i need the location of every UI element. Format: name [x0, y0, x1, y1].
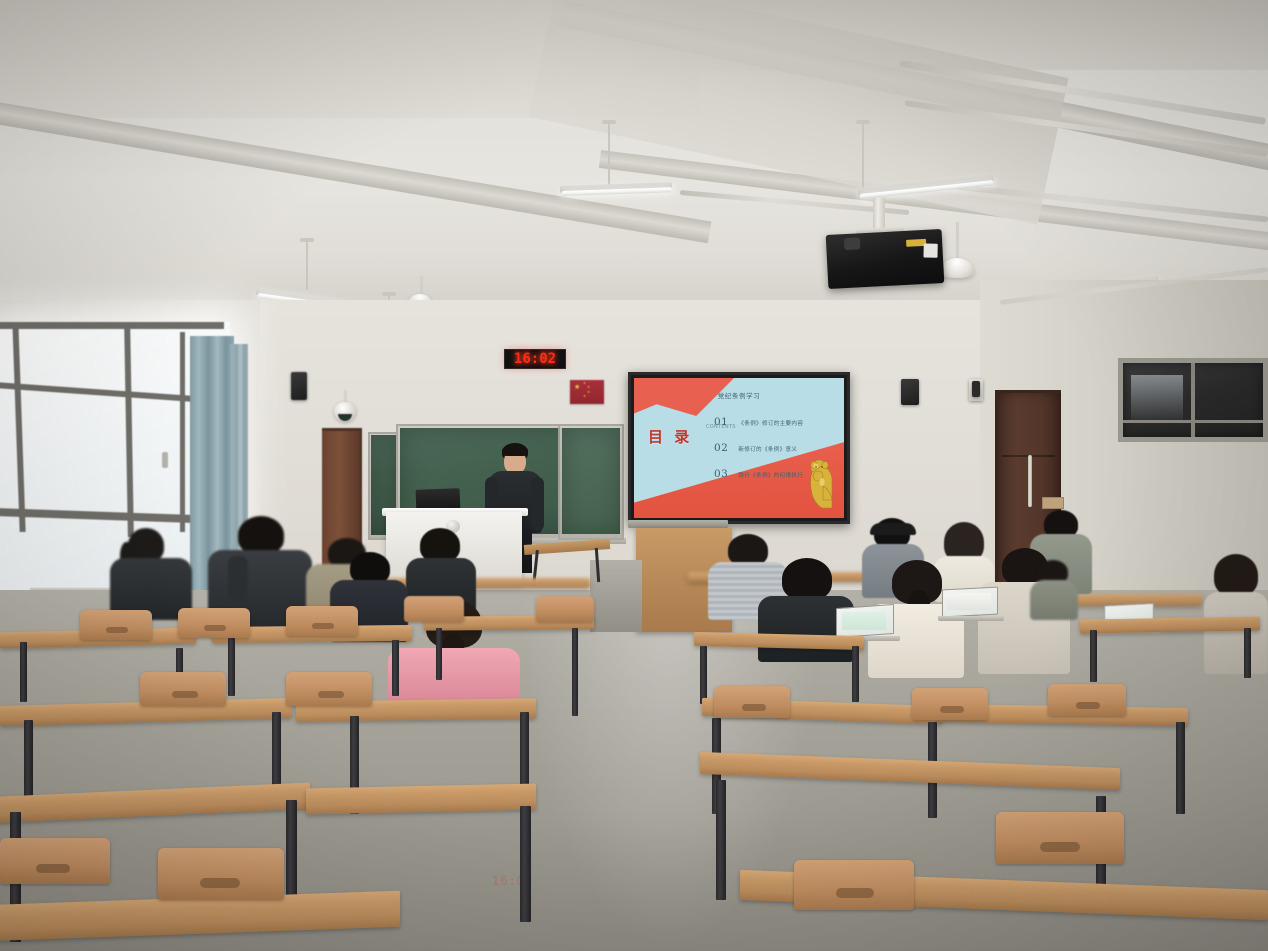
- classroom-photo: 16:02 ★ ★ ★ ★ ★ 16:02 党纪条例学习 目 录 CONTENT…: [0, 0, 1268, 951]
- ceiling-lamp-rod-2: [420, 276, 423, 296]
- flag-star-large-icon: ★: [574, 384, 580, 391]
- flag-star-small-1-icon: ★: [583, 382, 586, 386]
- instructor-arm-right: [531, 477, 544, 531]
- projection-screen: 党纪条例学习 目 录 CONTENTS 01 《条例》修订的主要内容 02 新修…: [628, 372, 850, 524]
- ceiling-lamp-1: [940, 258, 974, 278]
- student-right-9-torso: [1030, 580, 1078, 620]
- desk-right-mid-1-leg-2: [852, 646, 859, 702]
- chair-left-3[interactable]: [286, 606, 358, 636]
- slide-toc-item-2: 02 新修订的《条例》意义: [714, 442, 797, 454]
- light-rod-1: [306, 240, 308, 290]
- window-mullion-v1: [12, 322, 25, 532]
- chair-right-5-slot: [836, 888, 874, 898]
- student-right-8-torso: [1204, 592, 1268, 674]
- chair-front-1-slot: [36, 864, 70, 873]
- slide-toc-number-3: 03: [714, 468, 728, 480]
- chalkboard-right-panel: [562, 428, 620, 534]
- student-left-2-backpack-strap: [228, 556, 248, 602]
- chair-left-4-slot: [172, 691, 198, 698]
- chair-left-1-slot: [106, 627, 128, 633]
- chair-mid-1[interactable]: [404, 596, 464, 622]
- desk-left-mid-3-leg-1: [436, 628, 442, 680]
- desk-left-front-2-leg-1: [520, 806, 531, 922]
- clock-time: 16:02: [514, 351, 556, 367]
- presentation-slide: 党纪条例学习 目 录 CONTENTS 01 《条例》修订的主要内容 02 新修…: [634, 378, 844, 518]
- student-left-4-hair: [420, 528, 460, 562]
- chair-mid-2[interactable]: [536, 596, 594, 622]
- chair-left-5[interactable]: [286, 672, 372, 706]
- flag-star-small-4-icon: ★: [583, 395, 586, 399]
- window-rail: [1123, 420, 1263, 423]
- chair-left-4[interactable]: [140, 672, 226, 706]
- window-mullion-v2: [124, 322, 134, 537]
- chinese-national-flag: ★ ★ ★ ★ ★: [570, 380, 604, 404]
- flag-star-small-2-icon: ★: [587, 386, 590, 390]
- laptop-right-display-content: [947, 593, 991, 610]
- window-mullion-v3: [180, 332, 185, 532]
- laptop-right-base: [938, 616, 1004, 621]
- slide-toc-text-2: 新修订的《条例》意义: [738, 445, 797, 453]
- student-right-5-hair: [782, 558, 832, 600]
- slide-toc-text-3: 践行《条例》的纪律执行: [738, 471, 803, 479]
- chair-right-4-slot: [1040, 842, 1080, 852]
- chair-left-5-slot: [318, 691, 344, 698]
- light-rod-3: [608, 124, 610, 186]
- desk-left-mid-2-leg-2: [392, 640, 399, 696]
- slide-toc-item-1: 01 《条例》修订的主要内容: [714, 416, 803, 428]
- window-mullion: [1191, 363, 1195, 437]
- chair-left-2[interactable]: [178, 608, 250, 638]
- chair-right-2[interactable]: [912, 688, 988, 720]
- chair-right-2-slot: [940, 706, 964, 713]
- projector-sticker: [924, 243, 938, 257]
- window-glass-reflection: [1131, 375, 1183, 421]
- desk-left-mid-2-leg-1: [228, 638, 235, 696]
- golden-lion-statue-icon: [800, 456, 836, 512]
- screen-lower-bar: [628, 520, 728, 528]
- flag-star-small-3-icon: ★: [587, 391, 590, 395]
- desk-left-mid-3-leg-2: [572, 628, 578, 716]
- window-frame-top: [0, 322, 224, 329]
- window-handle[interactable]: [162, 452, 168, 468]
- laptop-center-display-content: [842, 612, 886, 630]
- chair-right-4[interactable]: [996, 812, 1124, 864]
- desk-left-front-2: [306, 784, 536, 815]
- desk-right-mid-2-leg-2: [1244, 628, 1251, 678]
- chair-right-3-slot: [1076, 702, 1100, 709]
- projector-lens-icon: [844, 237, 861, 250]
- person-student-left-1: [106, 528, 198, 620]
- person-student-right-9: [1030, 560, 1078, 620]
- ceiling-lamp-rod-1: [956, 222, 959, 260]
- ceiling-projector: [826, 229, 945, 289]
- chair-front-2[interactable]: [158, 848, 284, 900]
- slide-toc-number-2: 02: [714, 442, 728, 454]
- wall-speaker-left: [291, 372, 307, 400]
- laptop-right[interactable]: [942, 588, 1002, 622]
- student-left-2-hair: [238, 516, 284, 554]
- instructor-hair-front: [502, 445, 528, 456]
- rear-window: [1118, 358, 1268, 442]
- chair-front-2-slot: [200, 878, 240, 888]
- chair-right-3[interactable]: [1048, 684, 1126, 716]
- desk-right-front-1-leg-1: [716, 780, 726, 900]
- light-rod-5: [862, 122, 864, 188]
- slide-toc-item-3: 03 践行《条例》的纪律执行: [714, 468, 803, 480]
- desk-left-mid-1-leg-1: [20, 642, 27, 702]
- person-student-right-8: [1204, 554, 1268, 674]
- chair-front-1[interactable]: [0, 838, 110, 884]
- slide-heading-contents: 目 录: [648, 426, 692, 447]
- slide-title: 党纪条例学习: [634, 390, 844, 400]
- desk-right-mid-1-leg-1: [700, 646, 707, 704]
- student-right-8-hair: [1214, 554, 1258, 596]
- wall-switch-plate[interactable]: [1042, 497, 1064, 509]
- chair-right-1[interactable]: [714, 686, 790, 718]
- door-handle[interactable]: [1028, 455, 1032, 507]
- student-right-2-cap: [870, 523, 916, 535]
- chair-left-3-slot: [312, 623, 334, 629]
- slide-toc-text-1: 《条例》修订的主要内容: [738, 419, 803, 427]
- chair-right-5[interactable]: [794, 860, 914, 910]
- slide-toc-number-1: 01: [714, 416, 728, 428]
- led-wall-clock: 16:02: [504, 349, 566, 369]
- desk-right-low-2-leg-1: [1176, 722, 1185, 814]
- wall-speaker-right: [901, 379, 919, 405]
- chair-left-2-slot: [204, 625, 226, 631]
- desk-right-mid-2-leg-1: [1090, 630, 1097, 682]
- chair-right-1-slot: [742, 704, 766, 711]
- wall-box-right-inner: [972, 381, 980, 397]
